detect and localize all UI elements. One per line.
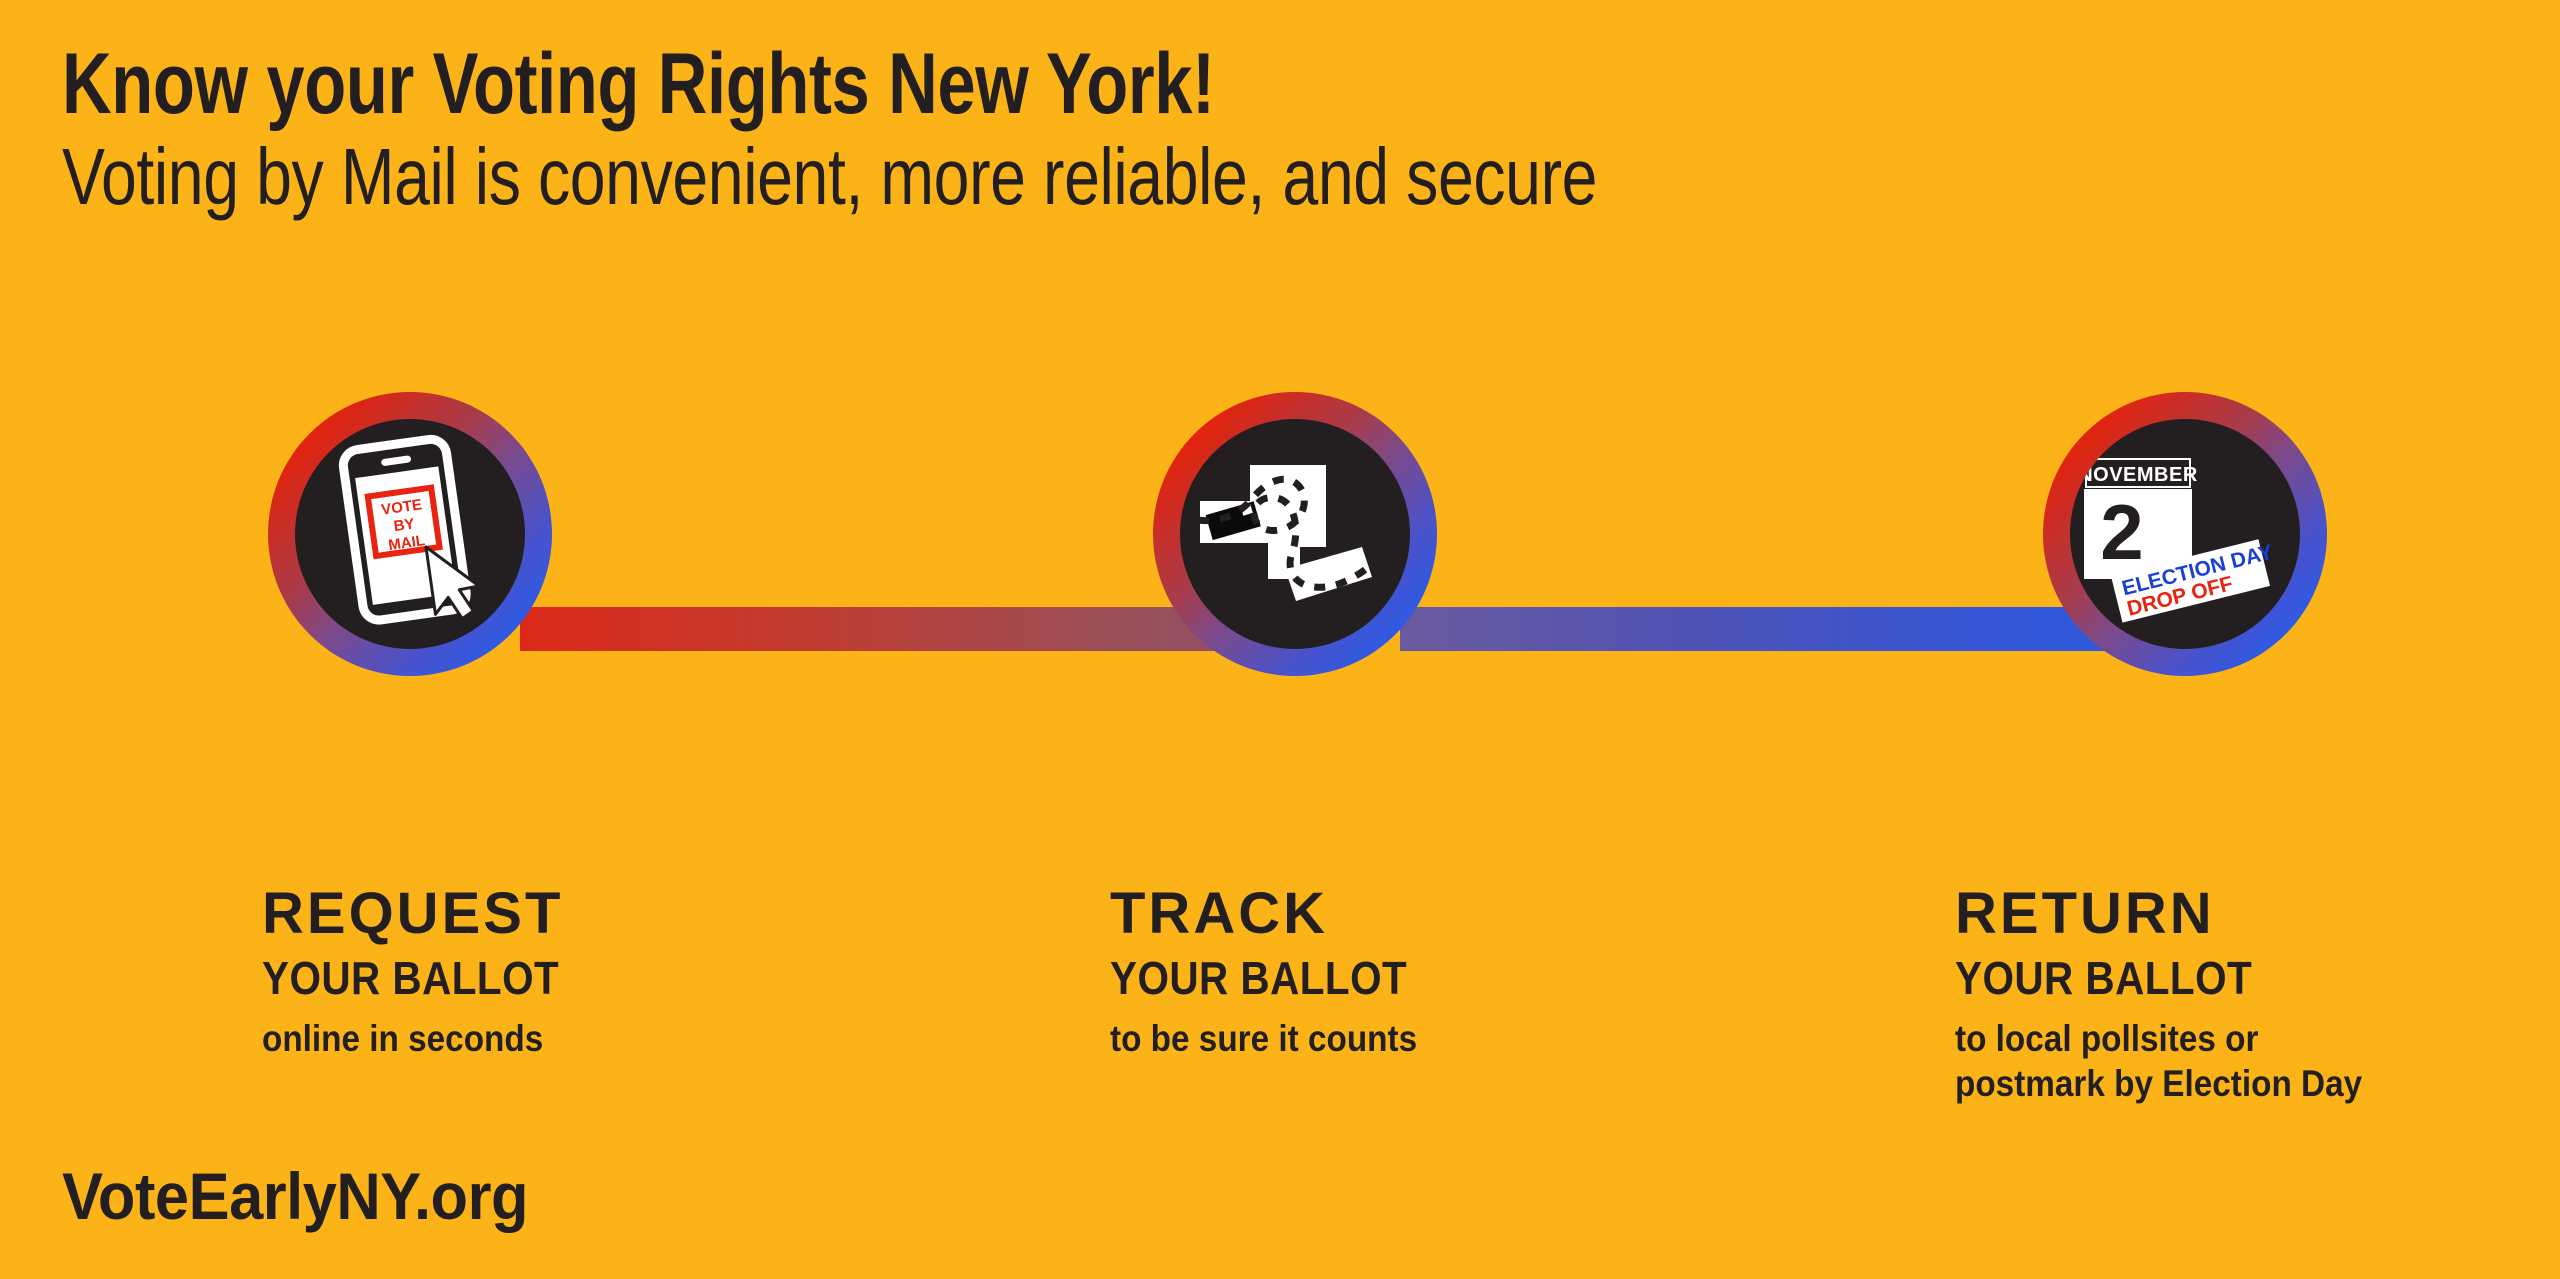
caption-subtitle-request: YOUR BALLOT xyxy=(262,954,559,1002)
step-circle-track xyxy=(1153,392,1437,676)
caption-subtitle-return: YOUR BALLOT xyxy=(1955,954,2353,1002)
caption-request: REQUEST YOUR BALLOT online in seconds xyxy=(262,885,600,1061)
step-circle-request: VOTE BY MAIL xyxy=(268,392,552,676)
caption-detail-return: to local pollsites or postmark by Electi… xyxy=(1955,1016,2362,1106)
caption-subtitle-track: YOUR BALLOT xyxy=(1110,954,1410,1002)
caption-detail-line: to be sure it counts xyxy=(1110,1016,1417,1061)
caption-title-request: REQUEST xyxy=(262,885,600,943)
ballot-tracking-path-icon xyxy=(1180,419,1410,649)
step-circle-return: NOVEMBER 2 ELECTION DAY DROP OFF xyxy=(2043,392,2327,676)
caption-title-track: TRACK xyxy=(1110,885,1451,943)
calendar-election-day-icon: NOVEMBER 2 ELECTION DAY DROP OFF xyxy=(2070,419,2300,649)
svg-text:NOVEMBER: NOVEMBER xyxy=(2078,464,2198,486)
caption-detail-line: to local pollsites or xyxy=(1955,1016,2362,1061)
footer-website-url[interactable]: VoteEarlyNY.org xyxy=(62,1158,528,1234)
caption-title-return: RETURN xyxy=(1955,885,2407,943)
phone-vote-by-mail-icon: VOTE BY MAIL xyxy=(295,419,525,649)
voting-rights-poster: Know your Voting Rights New York! Voting… xyxy=(0,0,2560,1279)
caption-return: RETURN YOUR BALLOT to local pollsites or… xyxy=(1955,885,2407,1107)
caption-detail-track: to be sure it counts xyxy=(1110,1016,1417,1061)
caption-track: TRACK YOUR BALLOT to be sure it counts xyxy=(1110,885,1451,1061)
svg-text:BY: BY xyxy=(393,515,416,535)
caption-detail-request: online in seconds xyxy=(262,1016,566,1061)
svg-text:2: 2 xyxy=(2100,488,2143,576)
caption-detail-line: online in seconds xyxy=(262,1016,566,1061)
caption-detail-line: postmark by Election Day xyxy=(1955,1061,2362,1106)
